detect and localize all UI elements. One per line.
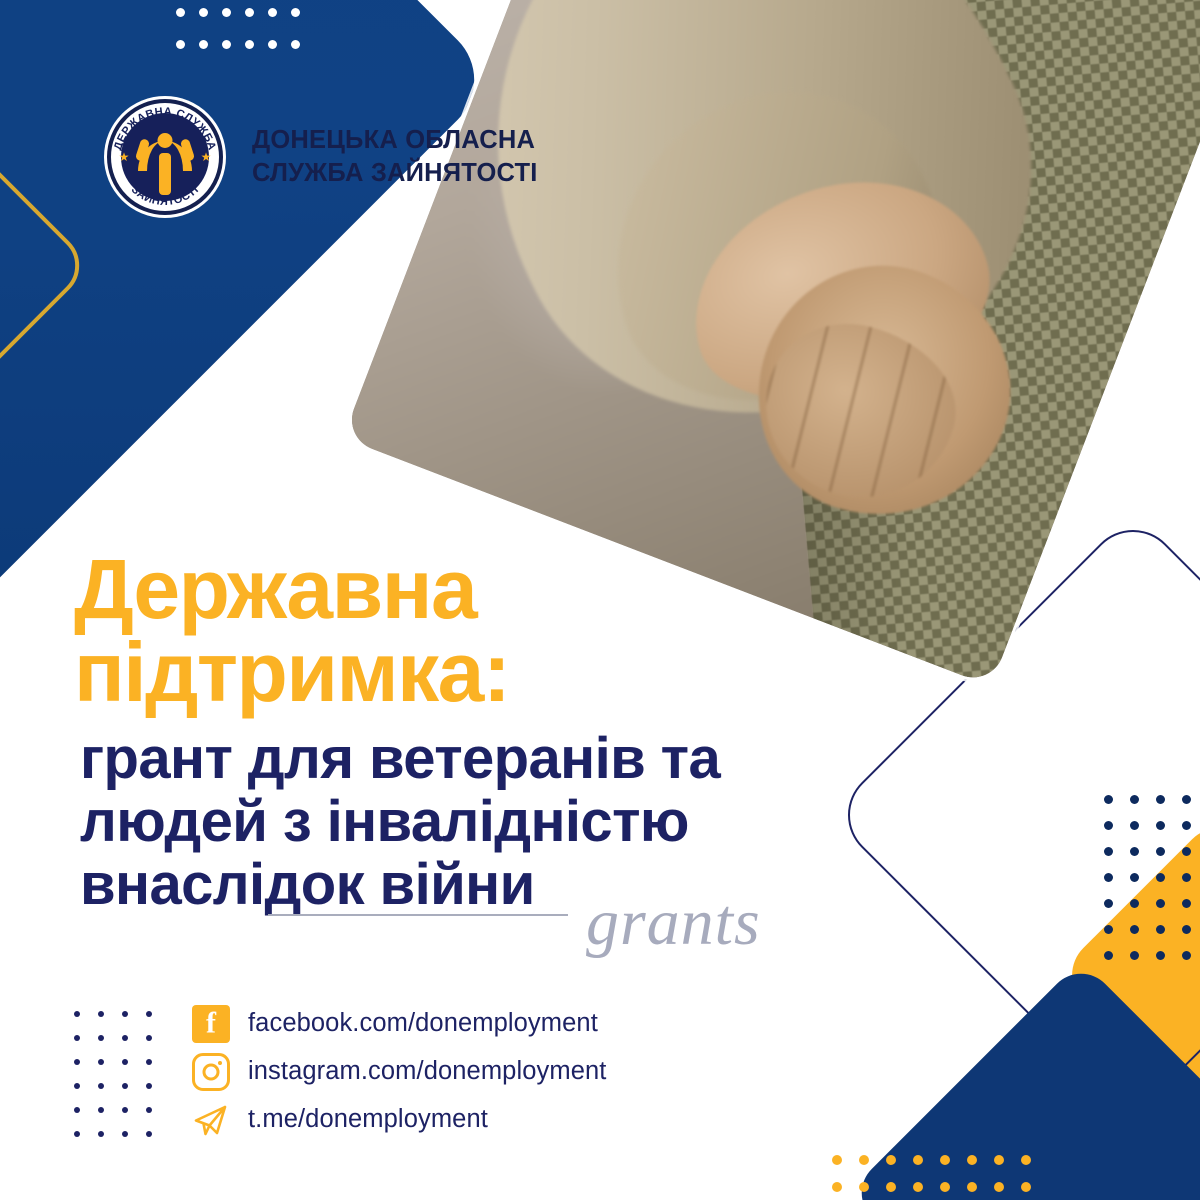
- dot: [146, 1083, 152, 1089]
- dot: [122, 1011, 128, 1017]
- social-link-facebook[interactable]: facebook.com/donemployment: [192, 1005, 606, 1043]
- dot: [1156, 899, 1165, 908]
- dot: [1182, 847, 1191, 856]
- dot: [291, 40, 300, 49]
- dot: [913, 1155, 923, 1165]
- dot: [122, 1131, 128, 1137]
- instagram-icon[interactable]: [192, 1053, 230, 1091]
- wheat-ear-icon: ★: [117, 150, 131, 164]
- dot: [74, 1011, 80, 1017]
- top-left-dot-grid: [176, 8, 314, 72]
- instagram-url[interactable]: instagram.com/donemployment: [248, 1059, 606, 1085]
- grants-watermark: grants: [268, 898, 798, 968]
- dot: [967, 1155, 977, 1165]
- dot: [98, 1083, 104, 1089]
- social-dot-grid: [74, 1011, 170, 1155]
- dot: [1130, 795, 1139, 804]
- dot: [146, 1011, 152, 1017]
- wheat-ear-icon: ★: [199, 150, 213, 164]
- dot: [74, 1035, 80, 1041]
- dot: [1156, 951, 1165, 960]
- dot: [1104, 899, 1113, 908]
- header: ДЕРЖАВНА СЛУЖБА ЗАЙНЯТОСТІ ★ ★ ДОНЕЦЬКА …: [104, 96, 538, 218]
- dot: [98, 1011, 104, 1017]
- dot: [146, 1035, 152, 1041]
- dot: [1182, 899, 1191, 908]
- organization-name: ДОНЕЦЬКА ОБЛАСНА СЛУЖБА ЗАЙНЯТОСТІ: [252, 124, 538, 190]
- employment-service-logo: ДЕРЖАВНА СЛУЖБА ЗАЙНЯТОСТІ ★ ★: [104, 96, 226, 218]
- dot: [1104, 847, 1113, 856]
- logo-figure-body: [159, 153, 171, 195]
- dot: [994, 1182, 1004, 1192]
- dot: [1156, 873, 1165, 882]
- instagram-lens: [203, 1064, 220, 1081]
- dot: [122, 1083, 128, 1089]
- grants-underline: [268, 914, 568, 916]
- headline-block: Державна підтримка: грант для ветеранів …: [74, 548, 854, 916]
- facebook-icon[interactable]: [192, 1005, 230, 1043]
- dot: [1130, 899, 1139, 908]
- dot: [1156, 821, 1165, 830]
- dot: [222, 8, 231, 17]
- dot: [832, 1155, 842, 1165]
- dot: [886, 1182, 896, 1192]
- grants-word: grants: [586, 890, 761, 956]
- dot: [146, 1059, 152, 1065]
- dot: [74, 1131, 80, 1137]
- dot: [859, 1155, 869, 1165]
- social-links-list: facebook.com/donemployment instagram.com…: [192, 1005, 606, 1139]
- dot: [913, 1182, 923, 1192]
- dot: [1021, 1155, 1031, 1165]
- dot: [1104, 925, 1113, 934]
- dot: [74, 1059, 80, 1065]
- dot: [146, 1131, 152, 1137]
- dot: [994, 1155, 1004, 1165]
- dot: [832, 1182, 842, 1192]
- dot: [268, 8, 277, 17]
- dot: [1130, 951, 1139, 960]
- dot: [245, 8, 254, 17]
- dot: [1130, 847, 1139, 856]
- dot: [1021, 1182, 1031, 1192]
- dot: [176, 8, 185, 17]
- dot: [1104, 795, 1113, 804]
- dot: [1156, 847, 1165, 856]
- dot: [1130, 821, 1139, 830]
- dot: [940, 1155, 950, 1165]
- dot: [122, 1059, 128, 1065]
- dot: [1104, 873, 1113, 882]
- dot: [268, 40, 277, 49]
- social-link-instagram[interactable]: instagram.com/donemployment: [192, 1053, 606, 1091]
- dot: [98, 1035, 104, 1041]
- dot: [1104, 821, 1113, 830]
- dot: [886, 1155, 896, 1165]
- dot: [98, 1059, 104, 1065]
- dot: [176, 40, 185, 49]
- dot: [940, 1182, 950, 1192]
- dot: [291, 8, 300, 17]
- dot: [1156, 795, 1165, 804]
- dot: [245, 40, 254, 49]
- dot: [967, 1182, 977, 1192]
- dot: [199, 40, 208, 49]
- dot: [1130, 873, 1139, 882]
- social-block: facebook.com/donemployment instagram.com…: [74, 1005, 606, 1155]
- dot: [122, 1035, 128, 1041]
- dot: [74, 1083, 80, 1089]
- dot: [1182, 873, 1191, 882]
- facebook-url[interactable]: facebook.com/donemployment: [248, 1011, 598, 1037]
- dot: [199, 8, 208, 17]
- dot: [222, 40, 231, 49]
- dot: [98, 1131, 104, 1137]
- instagram-dot: [218, 1061, 222, 1065]
- poster-canvas: ДЕРЖАВНА СЛУЖБА ЗАЙНЯТОСТІ ★ ★ ДОНЕЦЬКА …: [0, 0, 1200, 1200]
- dot: [1182, 795, 1191, 804]
- person-raising-arms-icon: [138, 133, 192, 195]
- dot: [1182, 925, 1191, 934]
- dot: [1104, 951, 1113, 960]
- dot: [146, 1107, 152, 1113]
- dot: [98, 1107, 104, 1113]
- telegram-icon[interactable]: [192, 1101, 230, 1139]
- dot: [74, 1107, 80, 1113]
- dot: [122, 1107, 128, 1113]
- dot: [1182, 821, 1191, 830]
- dot: [1130, 925, 1139, 934]
- bottom-yellow-dot-grid: [832, 1155, 1048, 1200]
- dot: [1182, 951, 1191, 960]
- headline-highlight: Державна підтримка:: [74, 548, 854, 714]
- social-link-telegram[interactable]: t.me/donemployment: [192, 1101, 606, 1139]
- dot: [1156, 925, 1165, 934]
- telegram-url[interactable]: t.me/donemployment: [248, 1107, 488, 1133]
- dot: [859, 1182, 869, 1192]
- right-dot-grid: [1104, 795, 1200, 977]
